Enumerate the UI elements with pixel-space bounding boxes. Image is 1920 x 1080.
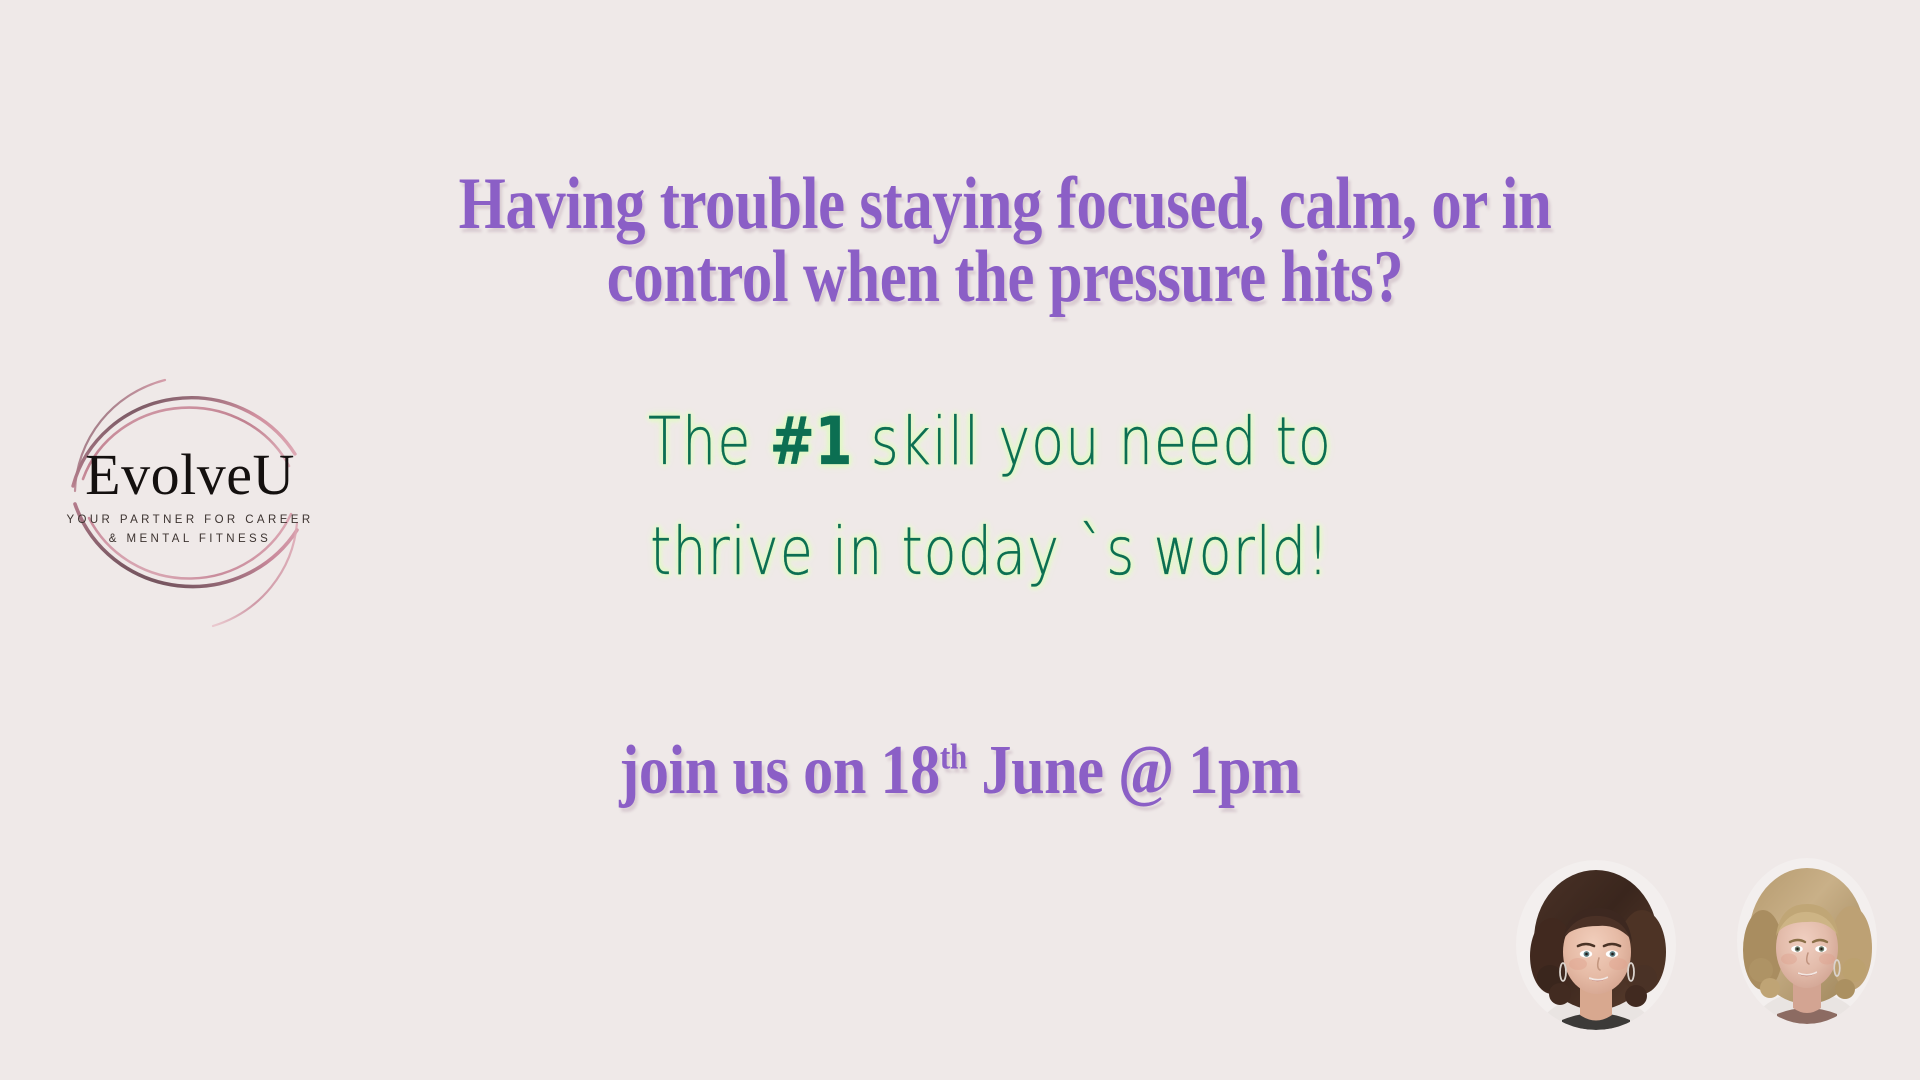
- logo-tagline: YOUR PARTNER FOR CAREER & MENTAL FITNESS: [45, 511, 335, 549]
- promo-slide: EvolveU YOUR PARTNER FOR CAREER & MENTAL…: [0, 0, 1920, 1080]
- dateline-suffix: June @ 1pm: [967, 732, 1301, 809]
- dateline-prefix: join us on 18: [619, 732, 940, 809]
- event-dateline: join us on 18th June @ 1pm: [504, 736, 1416, 806]
- evolveu-logo: EvolveU YOUR PARTNER FOR CAREER & MENTAL…: [45, 358, 335, 648]
- subheadline-suffix: skill you need to: [852, 403, 1331, 480]
- presenter-photo-right: [1737, 858, 1877, 1024]
- subheadline-line-1: The #1 skill you need to: [460, 409, 1520, 475]
- logo-text-block: EvolveU YOUR PARTNER FOR CAREER & MENTAL…: [45, 446, 335, 549]
- subheadline-prefix: The: [648, 403, 770, 480]
- subheadline-hash-number: #1: [770, 403, 853, 480]
- subheadline-line-2: thrive in today `s world!: [460, 519, 1520, 585]
- presenter-photo-left: [1516, 860, 1676, 1030]
- presenter-photo-left-image: [1516, 860, 1676, 1030]
- page-headline: Having trouble staying focused, calm, or…: [452, 168, 1559, 313]
- presenter-photo-right-image: [1737, 858, 1877, 1024]
- logo-wordmark: EvolveU: [45, 446, 335, 504]
- subheadline-block: The #1 skill you need to thrive in today…: [460, 415, 1520, 579]
- dateline-ordinal-suffix: th: [940, 737, 967, 777]
